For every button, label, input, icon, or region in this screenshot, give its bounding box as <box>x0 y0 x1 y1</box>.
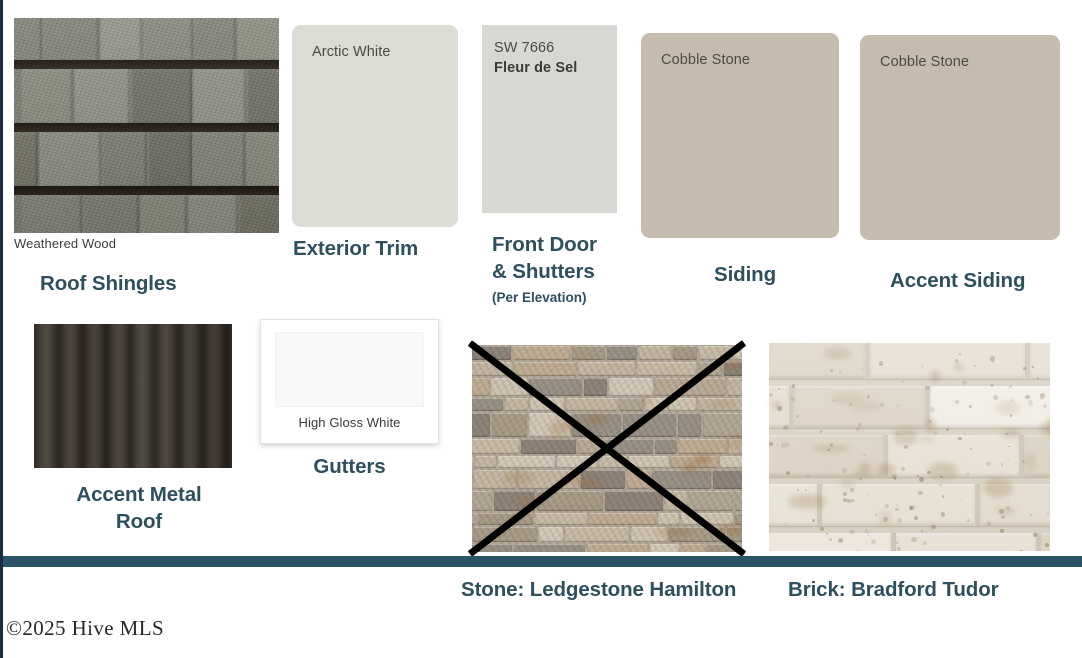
swatch-exterior-trim[interactable]: Arctic White <box>292 25 458 227</box>
stone-color-variation <box>503 471 533 484</box>
swatch-brick[interactable] <box>769 343 1050 551</box>
swatch-label-accent-siding: Cobble Stone <box>880 53 969 73</box>
caption-stone: Stone: Ledgestone Hamilton <box>461 576 736 603</box>
caption-gutters: Gutters <box>260 453 439 480</box>
caption-brick: Brick: Bradford Tudor <box>788 576 999 603</box>
metal-gloss-overlay <box>34 324 232 468</box>
caption-exterior-trim: Exterior Trim <box>293 235 418 262</box>
stone-grain-overlay <box>472 345 742 552</box>
gutters-color-field <box>275 332 424 407</box>
swatch-label-gutters: High Gloss White <box>261 415 438 430</box>
exterior-selections-board: Weathered Wood Roof Shingles Arctic Whit… <box>0 0 1082 658</box>
shingle-shade-overlay <box>14 18 279 233</box>
swatch-stone[interactable] <box>472 345 742 552</box>
caption-roof-shingles: Roof Shingles <box>40 270 177 297</box>
swatch-roof-shingles[interactable] <box>14 18 279 233</box>
caption-front-door: Front Door & Shutters <box>492 231 597 286</box>
swatch-front-door[interactable]: SW 7666 Fleur de Sel <box>482 25 617 213</box>
swatch-label-exterior-trim: Arctic White <box>312 43 391 63</box>
stone-color-variation <box>549 419 568 439</box>
caption-siding: Siding <box>714 261 776 288</box>
swatch-label-front-door: SW 7666 Fleur de Sel <box>494 39 577 78</box>
caption-front-door-note: (Per Elevation) <box>492 289 587 307</box>
stone-color-variation <box>583 414 607 425</box>
watermark-text: ©2025 Hive MLS <box>6 616 164 641</box>
stone-color-variation <box>566 476 602 486</box>
swatch-label-roof-shingles: Weathered Wood <box>14 236 116 251</box>
swatch-gutters[interactable]: High Gloss White <box>260 319 439 444</box>
stone-color-variation <box>697 470 713 478</box>
stone-color-variation <box>719 525 742 533</box>
brick-whitewash-overlay <box>769 343 1050 551</box>
stone-color-variation <box>642 396 652 406</box>
caption-accent-metal-roof: Accent Metal Roof <box>65 481 213 536</box>
swatch-siding[interactable]: Cobble Stone <box>641 33 839 238</box>
swatch-accent-siding[interactable]: Cobble Stone <box>860 35 1060 240</box>
swatch-label-siding: Cobble Stone <box>661 51 750 71</box>
divider-bar <box>3 556 1082 567</box>
swatch-accent-metal-roof[interactable] <box>34 324 232 468</box>
stone-color-variation <box>707 401 735 407</box>
caption-accent-siding: Accent Siding <box>890 267 1025 294</box>
